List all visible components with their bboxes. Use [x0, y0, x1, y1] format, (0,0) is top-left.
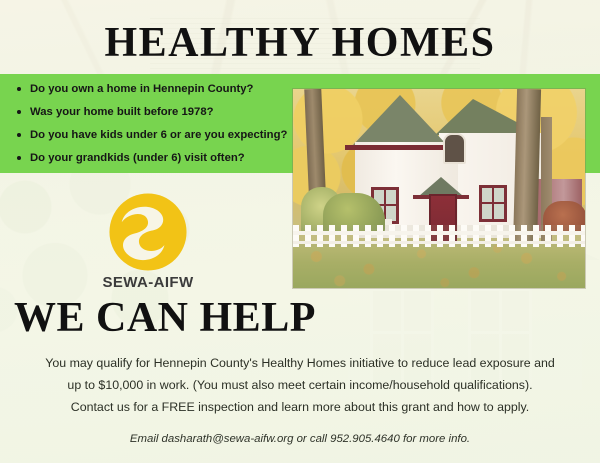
photo-fence-rail-bottom: [293, 241, 585, 244]
subheading: WE CAN HELP: [14, 294, 316, 342]
logo-wordmark: SEWA-AIFW: [88, 274, 208, 291]
body-copy: You may qualify for Hennepin County's He…: [12, 352, 588, 418]
photo-attic-window: [443, 133, 466, 164]
photo-gable: [353, 95, 447, 145]
photo-lawn: [293, 243, 585, 288]
list-item: Was your home built before 1978?: [16, 103, 292, 122]
photo-roof-eave: [345, 145, 459, 150]
house-photo: [293, 89, 585, 288]
list-item: Do your grandkids (under 6) visit often?: [16, 149, 292, 168]
body-line: Contact us for a FREE inspection and lea…: [12, 396, 588, 418]
body-line: up to $10,000 in work. (You must also me…: [12, 374, 588, 396]
sewa-swirl-icon: [107, 191, 189, 273]
photo-fence-rail-top: [293, 231, 585, 235]
list-item: Do you own a home in Hennepin County?: [16, 80, 292, 99]
list-item: Do you have kids under 6 or are you expe…: [16, 126, 292, 145]
photo-window-right: [479, 185, 507, 222]
healthy-homes-flyer: HEALTHY HOMES Do you own a home in Henne…: [0, 0, 600, 463]
contact-footer: Email dasharath@sewa-aifw.org or call 95…: [0, 433, 600, 445]
sewa-aifw-logo: SEWA-AIFW: [88, 191, 208, 291]
questions-list: Do you own a home in Hennepin County? Wa…: [16, 80, 292, 172]
page-title: HEALTHY HOMES: [0, 19, 600, 67]
body-line: You may qualify for Hennepin County's He…: [12, 352, 588, 374]
